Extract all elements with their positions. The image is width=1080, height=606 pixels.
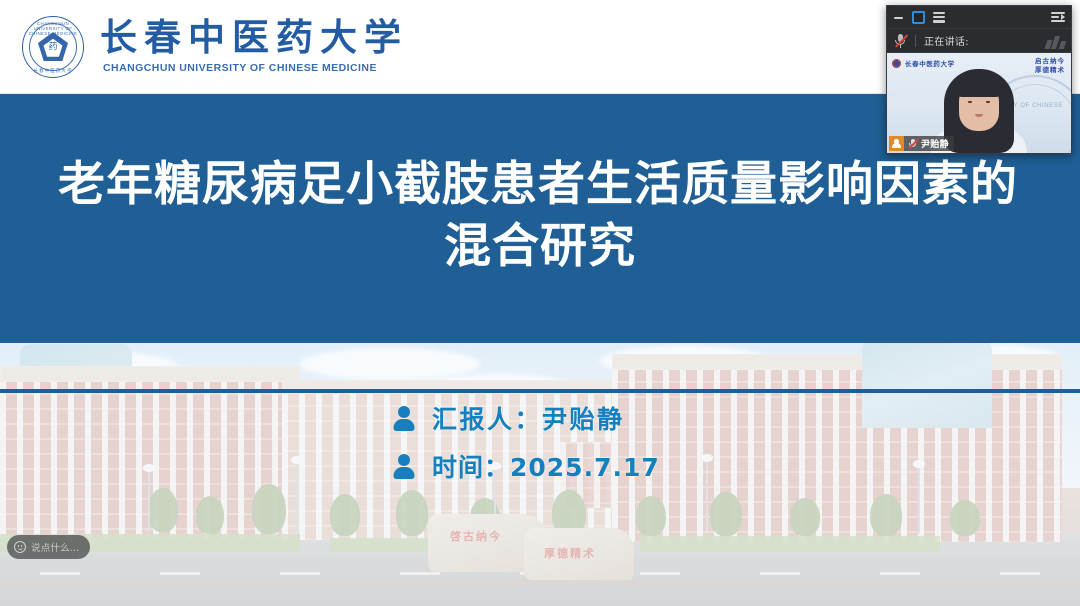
speaking-status-text: 正在讲话: bbox=[924, 33, 969, 48]
list-view-icon[interactable] bbox=[933, 12, 945, 23]
meta-row-presenter: 汇报人：尹贻静 bbox=[393, 406, 660, 432]
video-tile[interactable]: UNIVERSITY OF CHINESE 长春中医药大学 启古纳今 厚德精术 bbox=[887, 53, 1071, 153]
photo-glass-tower-right bbox=[862, 340, 992, 428]
person-icon bbox=[393, 406, 414, 432]
video-panel-toolbar bbox=[887, 6, 1071, 29]
university-name-en: CHANGCHUN UNIVERSITY OF CHINESE MEDICINE bbox=[103, 62, 408, 74]
university-crest-icon: CHANGCHUN UNIVERSITY OF CHINESE MEDICINE… bbox=[22, 16, 84, 78]
minimize-icon[interactable] bbox=[893, 12, 904, 23]
meeting-video-panel[interactable]: 正在讲话: UNIVERSITY OF CHINESE 长春中医药大学 启古纳今… bbox=[886, 5, 1072, 154]
screen: CHANGCHUN UNIVERSITY OF CHINESE MEDICINE… bbox=[0, 0, 1080, 606]
date-label: 时间：2025.7.17 bbox=[432, 455, 660, 480]
meta-row-date: 时间：2025.7.17 bbox=[393, 454, 660, 480]
video-banner-line-2: 厚德精术 bbox=[1035, 66, 1065, 75]
user-icon bbox=[889, 136, 904, 151]
video-background-banner: 启古纳今 厚德精术 bbox=[1035, 57, 1065, 76]
monument-text-right: 厚德精术 bbox=[544, 545, 596, 561]
monument-text-left: 啓古纳今 bbox=[450, 528, 502, 544]
person-icon bbox=[393, 454, 414, 480]
brand-block: 长春中医药大学 CHANGCHUN UNIVERSITY OF CHINESE … bbox=[100, 19, 408, 74]
comment-placeholder[interactable]: 说点什么... bbox=[31, 540, 79, 554]
photo-rule-top bbox=[0, 338, 1080, 343]
comment-input-bar[interactable]: 说点什么... bbox=[7, 535, 90, 559]
speaking-status-bar: 正在讲话: bbox=[887, 29, 1071, 53]
mic-muted-icon[interactable] bbox=[894, 33, 907, 48]
panel-toggle-icon[interactable] bbox=[1051, 12, 1065, 23]
audio-wave-icon bbox=[1046, 36, 1065, 49]
slide-title-line-1: 老年糖尿病足小截肢患者生活质量影响因素的 bbox=[58, 154, 1018, 216]
university-name-cn: 长春中医药大学 bbox=[100, 19, 408, 58]
mic-muted-icon bbox=[908, 138, 918, 149]
participant-name: 尹贻静 bbox=[921, 137, 949, 150]
slide-title-line-2: 混合研究 bbox=[444, 216, 636, 278]
smiley-icon[interactable] bbox=[14, 541, 26, 553]
photo-rule-second bbox=[0, 389, 1080, 393]
crest-arc-bottom-text: 长春中医药大学 bbox=[22, 68, 84, 74]
presenter-meta: 汇报人：尹贻静 时间：2025.7.17 bbox=[393, 406, 660, 480]
maximize-icon[interactable] bbox=[912, 11, 925, 24]
participant-nametag: 尹贻静 bbox=[889, 136, 954, 151]
presenter-label: 汇报人：尹贻静 bbox=[432, 407, 625, 432]
crest-glyph: 药 bbox=[48, 44, 57, 53]
video-logo-text: 长春中医药大学 bbox=[905, 58, 955, 68]
video-banner-line-1: 启古纳今 bbox=[1035, 57, 1065, 66]
video-background-logo: 长春中医药大学 bbox=[892, 58, 955, 68]
